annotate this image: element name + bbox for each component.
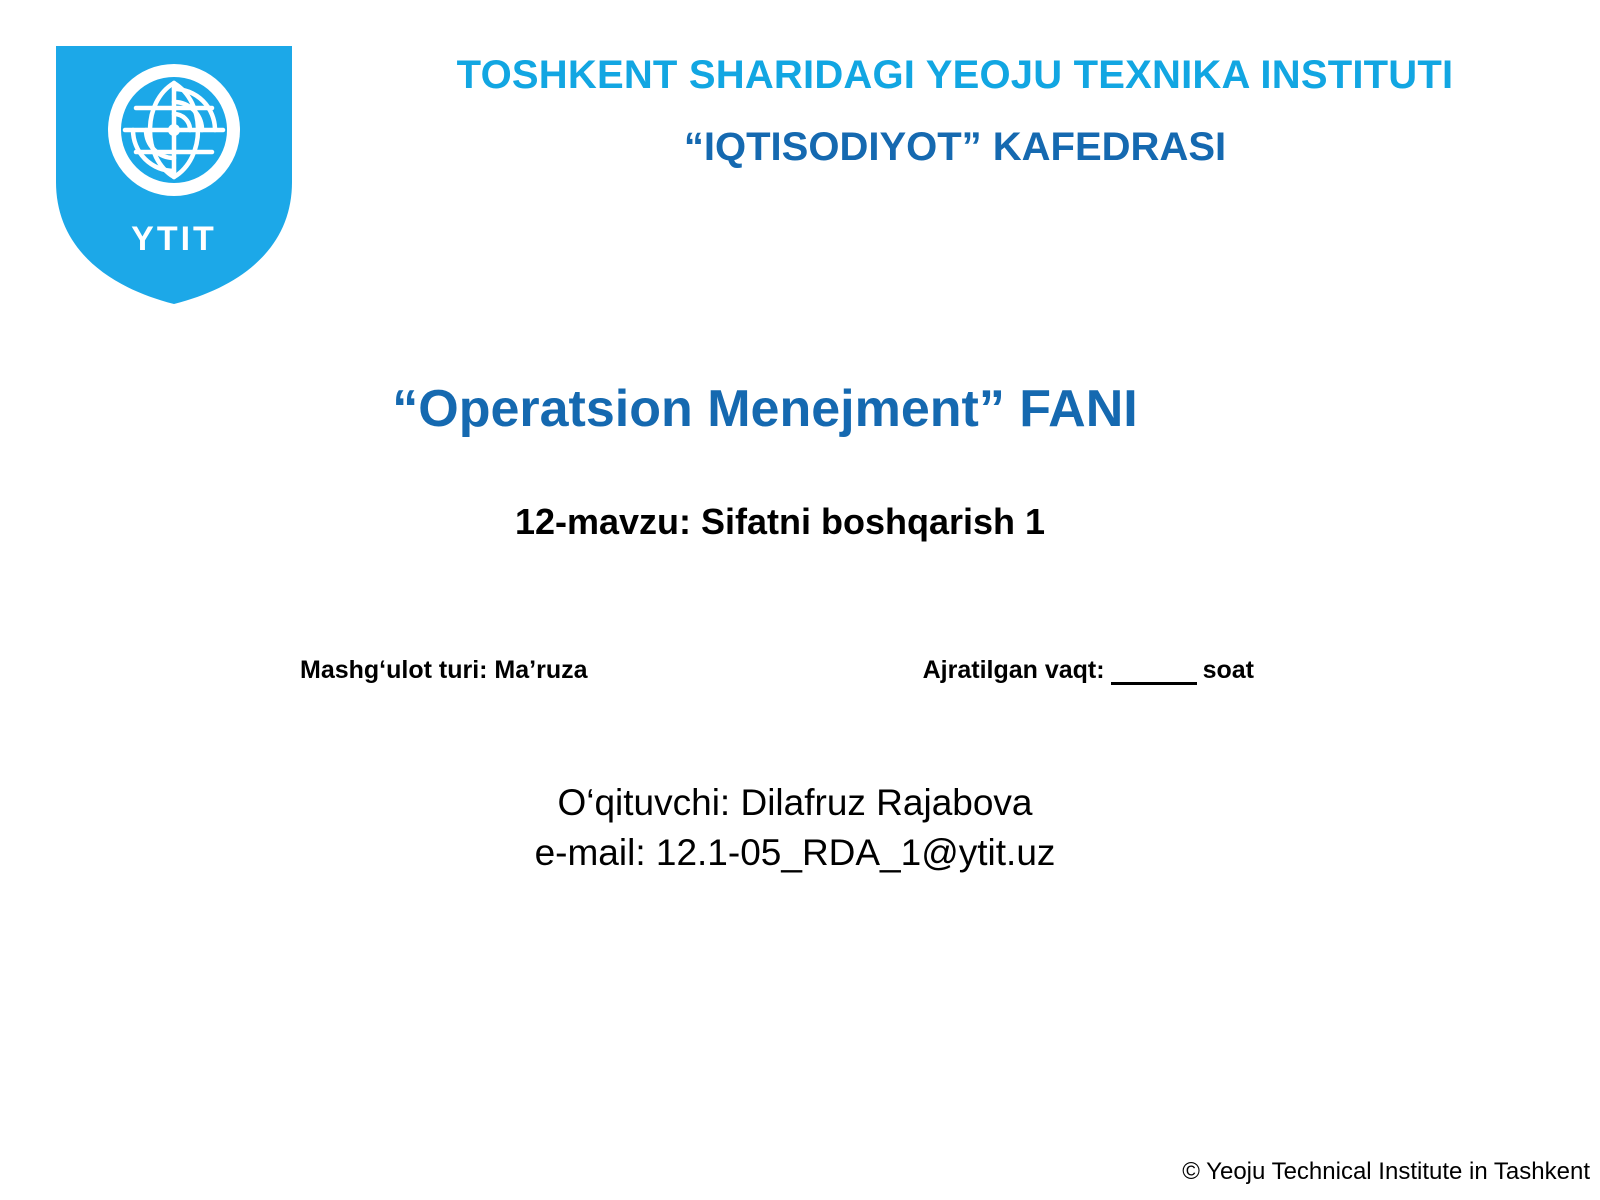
teacher-info: O‘qituvchi: Dilafruz Rajabova e-mail: 12… <box>0 778 1590 878</box>
copyright-footer: © Yeoju Technical Institute in Tashkent <box>1182 1158 1590 1186</box>
allotted-time-unit: soat <box>1203 656 1254 684</box>
allotted-time-blank[interactable] <box>1111 660 1197 685</box>
lesson-meta-row: Mashg‘ulot turi: Ma’ruza Ajratilgan vaqt… <box>300 656 1270 685</box>
institute-heading: TOSHKENT SHARIDAGI YEOJU TEXNIKA INSTITU… <box>330 52 1580 170</box>
ytit-logo: YTIT <box>30 32 318 310</box>
lesson-type: Mashg‘ulot turi: Ma’ruza <box>300 656 588 685</box>
department-name-line: “IQTISODIYOT” KAFEDRASI <box>330 124 1580 170</box>
allotted-time: Ajratilgan vaqt:soat <box>923 656 1254 685</box>
allotted-time-label: Ajratilgan vaqt: <box>923 656 1105 684</box>
logo-wordmark: YTIT <box>131 220 217 258</box>
teacher-name: O‘qituvchi: Dilafruz Rajabova <box>0 778 1590 828</box>
title-slide: YTIT TOSHKENT SHARIDAGI YEOJU TEXNIKA IN… <box>0 0 1600 1200</box>
topic-title: 12-mavzu: Sifatni boshqarish 1 <box>0 500 1560 543</box>
slide-header: YTIT TOSHKENT SHARIDAGI YEOJU TEXNIKA IN… <box>0 0 1600 320</box>
course-title: “Operatsion Menejment” FANI <box>0 378 1530 440</box>
shield-logo-icon: YTIT <box>30 32 318 310</box>
institute-name-line: TOSHKENT SHARIDAGI YEOJU TEXNIKA INSTITU… <box>330 52 1580 98</box>
teacher-email: e-mail: 12.1-05_RDA_1@ytit.uz <box>0 828 1590 878</box>
